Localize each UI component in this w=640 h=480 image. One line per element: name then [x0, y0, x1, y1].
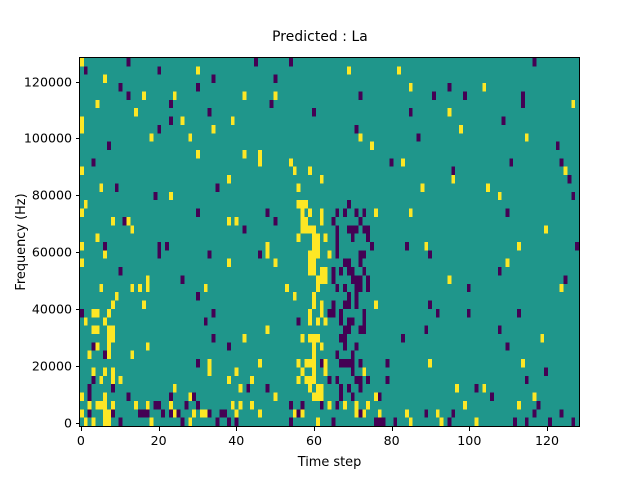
- chart-title: Predicted : La: [0, 29, 640, 45]
- x-tick-mark: [469, 427, 470, 431]
- x-tick-label: 20: [151, 433, 167, 448]
- x-tick-label: 80: [384, 433, 400, 448]
- heatmap-axes: [79, 57, 580, 427]
- y-tick-label: 120000: [24, 74, 72, 89]
- x-tick-mark: [81, 427, 82, 431]
- x-tick-label: 40: [228, 433, 244, 448]
- y-tick-label: 80000: [32, 188, 72, 203]
- y-axis-label: Frequency (Hz): [14, 57, 30, 427]
- y-tick-label: 40000: [32, 302, 72, 317]
- x-tick-label: 0: [77, 433, 85, 448]
- y-tick-label: 100000: [24, 131, 72, 146]
- x-tick-mark: [314, 427, 315, 431]
- x-tick-mark: [392, 427, 393, 431]
- y-tick-mark: [76, 309, 80, 310]
- x-tick-mark: [547, 427, 548, 431]
- y-tick-label: 60000: [32, 245, 72, 260]
- y-tick-label: 20000: [32, 358, 72, 373]
- x-axis-label: Time step: [79, 455, 580, 470]
- heatmap-image: [80, 58, 579, 426]
- x-tick-label: 120: [535, 433, 559, 448]
- x-tick-mark: [236, 427, 237, 431]
- y-tick-mark: [76, 82, 80, 83]
- heatmap-canvas: [80, 58, 579, 426]
- y-tick-mark: [76, 138, 80, 139]
- y-tick-mark: [76, 195, 80, 196]
- x-tick-mark: [159, 427, 160, 431]
- x-tick-label: 60: [306, 433, 322, 448]
- y-tick-mark: [76, 366, 80, 367]
- y-tick-label: 0: [64, 415, 72, 430]
- matplotlib-figure: Predicted : La 020406080100120 020000400…: [0, 0, 640, 480]
- y-tick-mark: [76, 423, 80, 424]
- x-tick-label: 100: [457, 433, 481, 448]
- y-tick-mark: [76, 252, 80, 253]
